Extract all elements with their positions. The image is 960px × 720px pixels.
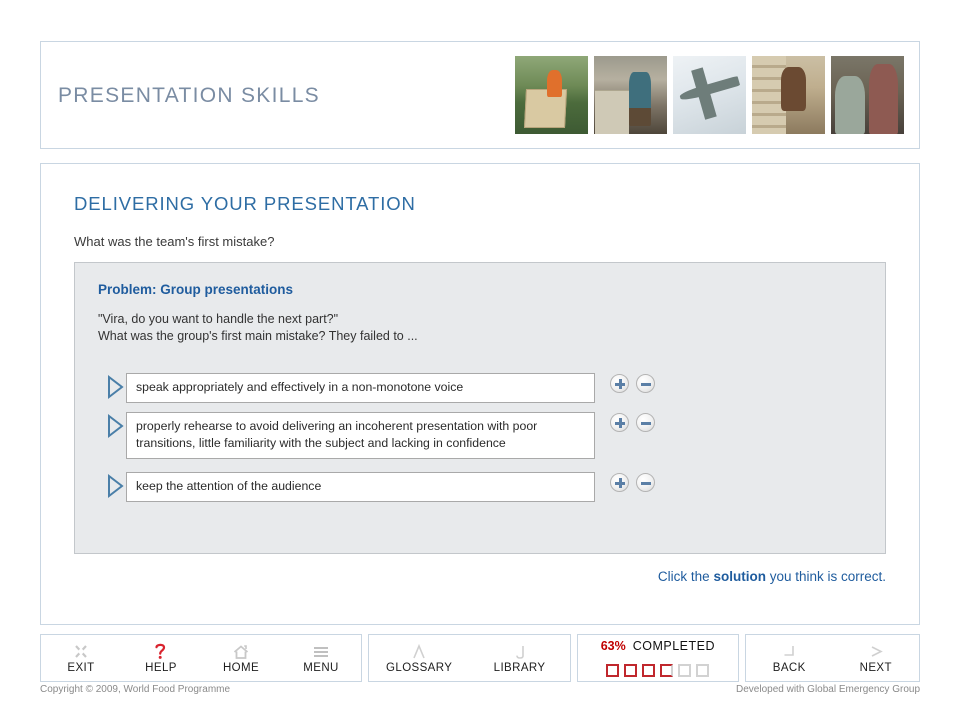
answer-option-actions — [610, 413, 655, 432]
header-photo-strip — [514, 55, 905, 135]
footer-developer-credit: Developed with Global Emergency Group — [736, 684, 920, 695]
photo-women-and-children-queue — [830, 55, 905, 135]
nav-group-resources: GLOSSARY LIBRARY — [368, 634, 571, 682]
photo-cargo-airplane-airdrop — [672, 55, 747, 135]
nav-label-menu: MENU — [303, 662, 338, 674]
bottom-navigation-bar: EXIT HELP HOME — [40, 634, 920, 682]
progress-square — [606, 664, 619, 677]
progress-indicator: 63% COMPLETED — [577, 634, 739, 682]
answer-option-text[interactable]: speak appropriately and effectively in a… — [126, 373, 595, 403]
nav-group-primary: EXIT HELP HOME — [40, 634, 362, 682]
nav-item-exit[interactable]: EXIT — [41, 635, 121, 681]
nav-label-home: HOME — [223, 662, 259, 674]
progress-square — [660, 664, 673, 677]
nav-label-exit: EXIT — [67, 662, 94, 674]
minus-icon[interactable] — [636, 413, 655, 432]
nav-label-help: HELP — [145, 662, 177, 674]
question-mark-icon — [152, 642, 170, 661]
letter-a-icon — [410, 642, 428, 661]
plus-icon[interactable] — [610, 374, 629, 393]
main-content-card: DELIVERING YOUR PRESENTATION What was th… — [40, 163, 920, 625]
answer-options-list: speak appropriately and effectively in a… — [105, 373, 655, 511]
triangle-right-icon[interactable] — [105, 473, 126, 499]
plus-icon[interactable] — [610, 473, 629, 492]
triangle-right-icon[interactable] — [105, 413, 126, 439]
nav-label-back: BACK — [773, 662, 806, 674]
house-icon — [231, 642, 251, 661]
nav-item-menu[interactable]: MENU — [281, 635, 361, 681]
footer-copyright: Copyright © 2009, World Food Programme — [40, 684, 230, 695]
hint-suffix: you think is correct. — [766, 569, 886, 584]
arrow-next-icon — [866, 642, 886, 661]
answer-option-row[interactable]: keep the attention of the audience — [105, 472, 655, 502]
minus-icon[interactable] — [636, 473, 655, 492]
photo-man-handling-grain-sack — [751, 55, 826, 135]
answer-option-text[interactable]: properly rehearse to avoid delivering an… — [126, 412, 595, 459]
minus-icon[interactable] — [636, 374, 655, 393]
nav-item-glossary[interactable]: GLOSSARY — [372, 635, 467, 681]
problem-body-text: "Vira, do you want to handle the next pa… — [98, 311, 418, 345]
triangle-right-icon[interactable] — [105, 374, 126, 400]
book-icon — [511, 642, 529, 661]
progress-label: COMPLETED — [633, 639, 715, 653]
answer-option-actions — [610, 473, 655, 492]
nav-item-next[interactable]: NEXT — [836, 635, 916, 681]
hamburger-menu-icon — [311, 642, 331, 661]
problem-heading: Problem: Group presentations — [98, 282, 293, 297]
photo-child-beside-food-sacks — [593, 55, 668, 135]
exit-x-icon — [72, 642, 90, 661]
progress-squares — [606, 664, 709, 677]
plus-icon[interactable] — [610, 413, 629, 432]
question-prompt: What was the team's first mistake? — [74, 234, 274, 249]
progress-square — [642, 664, 655, 677]
answer-option-row[interactable]: speak appropriately and effectively in a… — [105, 373, 655, 403]
nav-item-back[interactable]: BACK — [749, 635, 829, 681]
nav-label-next: NEXT — [860, 662, 892, 674]
progress-square — [696, 664, 709, 677]
header-card: PRESENTATION SKILLS — [40, 41, 920, 149]
nav-item-home[interactable]: HOME — [201, 635, 281, 681]
nav-group-pagination: BACK NEXT — [745, 634, 920, 682]
nav-label-library: LIBRARY — [494, 662, 546, 674]
progress-percent: 63% — [601, 639, 626, 653]
page-title: PRESENTATION SKILLS — [58, 84, 320, 108]
answer-option-row[interactable]: properly rehearse to avoid delivering an… — [105, 412, 655, 459]
answer-option-actions — [610, 374, 655, 393]
section-title: DELIVERING YOUR PRESENTATION — [74, 193, 416, 215]
arrow-back-icon — [779, 642, 799, 661]
nav-item-library[interactable]: LIBRARY — [472, 635, 567, 681]
progress-square — [678, 664, 691, 677]
progress-square — [624, 664, 637, 677]
answer-option-text[interactable]: keep the attention of the audience — [126, 472, 595, 502]
progress-summary: 63% COMPLETED — [601, 639, 715, 653]
problem-panel: Problem: Group presentations "Vira, do y… — [74, 262, 886, 554]
nav-label-glossary: GLOSSARY — [386, 662, 452, 674]
photo-aid-workers-carrying-box — [514, 55, 589, 135]
hint-prefix: Click the — [658, 569, 714, 584]
hint-text: Click the solution you think is correct. — [658, 569, 886, 584]
hint-bold-word: solution — [713, 569, 766, 584]
nav-item-help[interactable]: HELP — [121, 635, 201, 681]
